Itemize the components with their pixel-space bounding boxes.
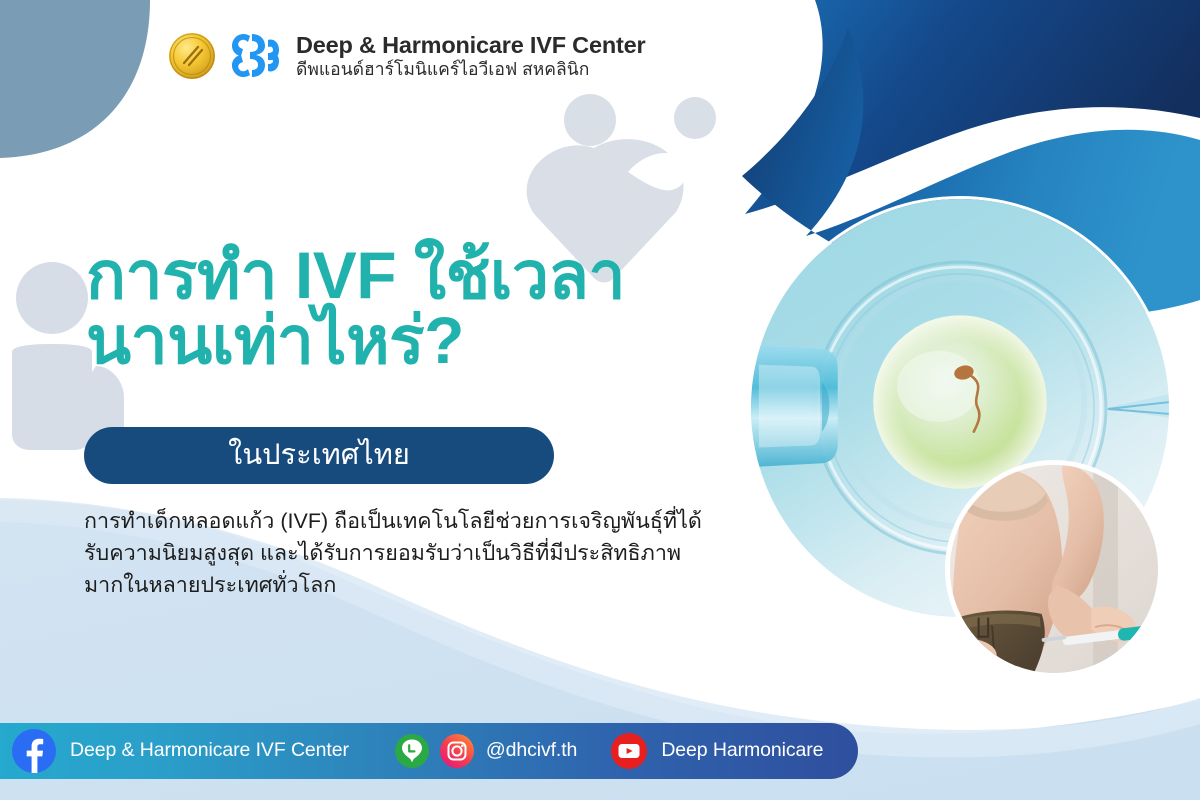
country-badge-label: ในประเทศไทย — [228, 441, 410, 470]
facebook-label[interactable]: Deep & Harmonicare IVF Center — [70, 741, 349, 761]
brand-name-th: ดีพแอนด์ฮาร์โมนิแคร์ไอวีเอฟ สหคลินิก — [296, 59, 645, 79]
description-line-2: รับความนิยมสูงสุด และได้รับการยอมรับว่าเ… — [84, 538, 704, 570]
description-line-3: มากในหลายประเทศทั่วโลก — [84, 570, 704, 602]
wave-ribbon-upper — [745, 0, 1200, 214]
self-injection-photo — [945, 460, 1163, 678]
top-left-slate-corner-shape — [0, 0, 150, 158]
poster-canvas: Deep & Harmonicare IVF Center ดีพแอนด์ฮา… — [0, 0, 1200, 800]
description-line-1: การทำเด็กหลอดแก้ว (IVF) ถือเป็นเทคโนโลยี… — [84, 506, 704, 538]
social-footer-bar: Deep & Harmonicare IVF Center — [0, 723, 858, 779]
line-icon[interactable] — [395, 734, 429, 768]
brand-logo-text: Deep & Harmonicare IVF Center ดีพแอนด์ฮา… — [296, 33, 645, 80]
footer-instagram[interactable]: @dhcivf.th — [440, 723, 577, 779]
instagram-icon[interactable] — [440, 734, 474, 768]
footer-youtube[interactable]: Deep Harmonicare — [611, 723, 823, 779]
headline-line-2: นานเท่าไหร่? — [86, 308, 726, 373]
youtube-label[interactable]: Deep Harmonicare — [661, 741, 823, 761]
instagram-label[interactable]: @dhcivf.th — [486, 741, 577, 761]
gold-accreditation-medal-icon — [168, 32, 216, 80]
brand-name-en: Deep & Harmonicare IVF Center — [296, 33, 645, 58]
footer-facebook[interactable]: Deep & Harmonicare IVF Center — [12, 723, 349, 779]
page-title: การทำ IVF ใช้เวลา นานเท่าไหร่? — [86, 243, 726, 374]
country-badge: ในประเทศไทย — [84, 427, 554, 484]
hero-description: การทำเด็กหลอดแก้ว (IVF) ถือเป็นเทคโนโลยี… — [84, 506, 704, 601]
headline-line-1: การทำ IVF ใช้เวลา — [86, 243, 726, 308]
footer-line[interactable] — [395, 723, 429, 779]
brand-logo: Deep & Harmonicare IVF Center ดีพแอนด์ฮา… — [168, 30, 645, 82]
facebook-icon[interactable] — [12, 729, 56, 773]
blue-clover-dh-monogram-icon — [228, 30, 280, 82]
youtube-icon[interactable] — [611, 733, 647, 769]
